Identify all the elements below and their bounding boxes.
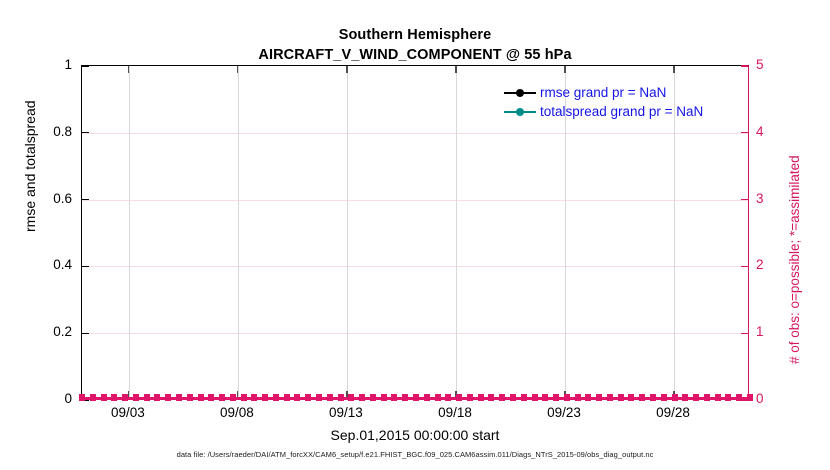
obs-marker bbox=[391, 394, 397, 401]
obs-marker bbox=[715, 394, 721, 401]
chart-title-block: Southern Hemisphere AIRCRAFT_V_WIND_COMP… bbox=[0, 26, 830, 65]
obs-marker bbox=[219, 394, 225, 401]
obs-marker bbox=[187, 394, 193, 401]
obs-marker bbox=[661, 394, 667, 401]
legend-swatch-rmse bbox=[504, 87, 536, 99]
obs-marker bbox=[381, 394, 387, 401]
obs-marker bbox=[693, 394, 699, 401]
left-axis-tick bbox=[82, 333, 89, 334]
obs-marker bbox=[618, 394, 624, 401]
obs-marker bbox=[553, 394, 559, 401]
obs-marker bbox=[725, 394, 731, 401]
obs-count-markers bbox=[82, 393, 748, 402]
gridline-vertical bbox=[456, 66, 457, 398]
obs-marker bbox=[499, 394, 505, 401]
legend-entry-totalspread: totalspread grand pr = NaN bbox=[504, 102, 742, 121]
obs-marker bbox=[122, 394, 128, 401]
obs-marker bbox=[510, 394, 516, 401]
right-axis-tick-label: 5 bbox=[756, 58, 796, 72]
x-axis-tick-top bbox=[237, 66, 238, 73]
left-axis-tick-label: 0.4 bbox=[2, 258, 72, 272]
obs-marker bbox=[435, 394, 441, 401]
plot-area: rmse grand pr = NaN totalspread grand pr… bbox=[81, 65, 749, 399]
right-axis-title: # of obs: o=possible; *=assimilated bbox=[787, 155, 802, 364]
left-axis-tick bbox=[82, 199, 89, 200]
legend-label-rmse: rmse grand pr = NaN bbox=[540, 85, 666, 100]
x-axis-tick-label: 09/13 bbox=[306, 406, 386, 420]
x-axis-title: Sep.01,2015 00:00:00 start bbox=[0, 427, 830, 443]
obs-marker bbox=[176, 394, 182, 401]
obs-marker bbox=[144, 394, 150, 401]
obs-marker bbox=[564, 394, 570, 401]
legend-swatch-totalspread bbox=[504, 106, 536, 118]
obs-marker bbox=[575, 394, 581, 401]
gridline-vertical bbox=[238, 66, 239, 398]
obs-marker bbox=[338, 394, 344, 401]
obs-marker bbox=[359, 394, 365, 401]
x-axis-tick-top bbox=[455, 66, 456, 73]
gridline-vertical bbox=[129, 66, 130, 398]
obs-marker bbox=[607, 394, 613, 401]
gridline-horizontal bbox=[82, 133, 748, 134]
right-axis-tick bbox=[741, 65, 748, 66]
chart-title-line-1: Southern Hemisphere bbox=[0, 26, 830, 46]
obs-marker bbox=[488, 394, 494, 401]
obs-marker bbox=[133, 394, 139, 401]
obs-marker bbox=[424, 394, 430, 401]
right-axis-tick-label: 4 bbox=[756, 125, 796, 139]
obs-marker bbox=[90, 394, 96, 401]
obs-marker bbox=[154, 394, 160, 401]
obs-marker bbox=[198, 394, 204, 401]
obs-marker bbox=[542, 394, 548, 401]
obs-marker bbox=[316, 394, 322, 401]
obs-marker bbox=[532, 394, 538, 401]
obs-marker bbox=[596, 394, 602, 401]
obs-marker bbox=[294, 394, 300, 401]
obs-marker bbox=[682, 394, 688, 401]
right-axis-tick bbox=[741, 333, 748, 334]
chart-title-line-2: AIRCRAFT_V_WIND_COMPONENT @ 55 hPa bbox=[0, 46, 830, 66]
legend-marker-totalspread bbox=[516, 108, 524, 116]
obs-marker bbox=[348, 394, 354, 401]
obs-marker bbox=[747, 394, 753, 401]
left-axis-tick bbox=[82, 132, 89, 133]
obs-marker bbox=[478, 394, 484, 401]
obs-marker bbox=[101, 394, 107, 401]
left-axis-tick bbox=[82, 266, 89, 267]
gridline-vertical bbox=[347, 66, 348, 398]
obs-marker bbox=[704, 394, 710, 401]
obs-marker bbox=[273, 394, 279, 401]
left-axis-tick-label: 0.2 bbox=[2, 325, 72, 339]
legend-label-totalspread: totalspread grand pr = NaN bbox=[540, 104, 703, 119]
left-axis-tick bbox=[82, 65, 89, 66]
data-file-footer: data file: /Users/raeder/DAI/ATM_forcXX/… bbox=[0, 450, 830, 459]
chart-legend: rmse grand pr = NaN totalspread grand pr… bbox=[504, 81, 742, 123]
obs-marker bbox=[402, 394, 408, 401]
x-axis-tick-top bbox=[673, 66, 674, 73]
x-axis-tick-label: 09/03 bbox=[88, 406, 168, 420]
x-axis-tick-label: 09/28 bbox=[633, 406, 713, 420]
obs-marker bbox=[639, 394, 645, 401]
right-axis-tick bbox=[741, 199, 748, 200]
obs-marker bbox=[456, 394, 462, 401]
obs-marker bbox=[628, 394, 634, 401]
obs-marker bbox=[165, 394, 171, 401]
obs-marker bbox=[262, 394, 268, 401]
obs-marker bbox=[230, 394, 236, 401]
obs-marker bbox=[650, 394, 656, 401]
x-axis-tick-label: 09/23 bbox=[524, 406, 604, 420]
obs-marker bbox=[370, 394, 376, 401]
right-axis-tick bbox=[741, 266, 748, 267]
obs-marker bbox=[284, 394, 290, 401]
obs-marker bbox=[467, 394, 473, 401]
obs-marker bbox=[445, 394, 451, 401]
legend-entry-rmse: rmse grand pr = NaN bbox=[504, 83, 742, 102]
gridline-horizontal bbox=[82, 333, 748, 334]
obs-marker bbox=[79, 394, 85, 401]
gridline-horizontal bbox=[82, 200, 748, 201]
obs-marker bbox=[327, 394, 333, 401]
obs-marker bbox=[305, 394, 311, 401]
right-axis-tick bbox=[741, 132, 748, 133]
gridline-horizontal bbox=[82, 266, 748, 267]
obs-marker bbox=[208, 394, 214, 401]
left-axis-title: rmse and totalspread bbox=[22, 100, 38, 232]
x-axis-tick-label: 09/08 bbox=[197, 406, 277, 420]
x-axis-tick-top bbox=[564, 66, 565, 73]
obs-marker bbox=[251, 394, 257, 401]
obs-marker bbox=[585, 394, 591, 401]
obs-marker bbox=[413, 394, 419, 401]
obs-marker bbox=[672, 394, 678, 401]
legend-marker-rmse bbox=[516, 89, 524, 97]
obs-marker bbox=[736, 394, 742, 401]
obs-marker bbox=[521, 394, 527, 401]
x-axis-tick-top bbox=[346, 66, 347, 73]
obs-marker bbox=[111, 394, 117, 401]
right-axis-tick-label: 0 bbox=[756, 392, 796, 406]
left-axis-tick-label: 1 bbox=[2, 58, 72, 72]
x-axis-tick-top bbox=[128, 66, 129, 73]
left-axis-tick-label: 0 bbox=[2, 392, 72, 406]
x-axis-tick-label: 09/18 bbox=[415, 406, 495, 420]
obs-marker bbox=[241, 394, 247, 401]
